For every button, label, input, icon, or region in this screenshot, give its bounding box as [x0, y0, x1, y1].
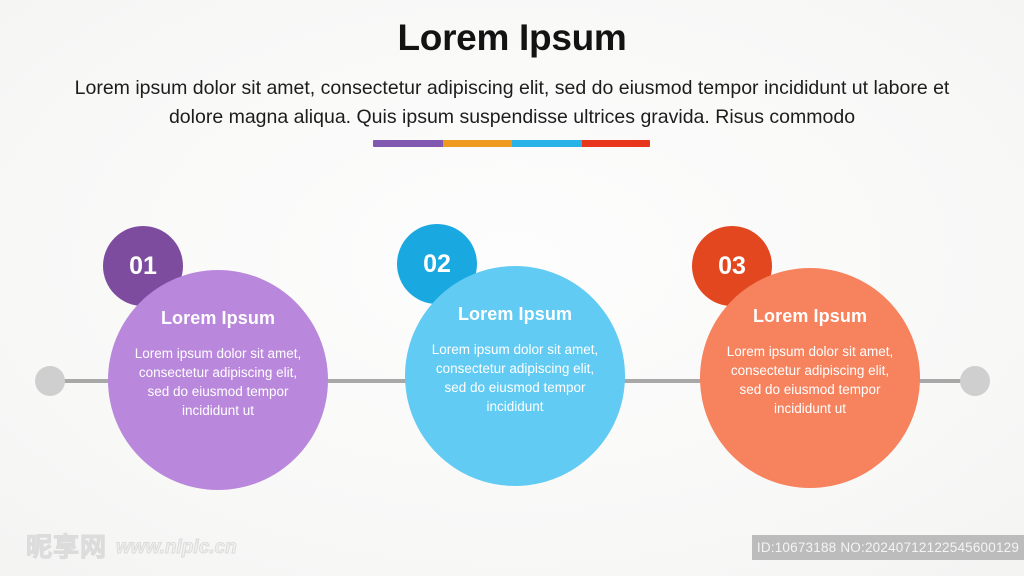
step-heading-01: Lorem Ipsum [161, 308, 275, 329]
step-item-03[interactable]: 03 Lorem Ipsum Lorem ipsum dolor sit ame… [700, 268, 920, 488]
step-bubble-03[interactable]: Lorem Ipsum Lorem ipsum dolor sit amet, … [700, 268, 920, 488]
divider-segment-orange [443, 140, 512, 147]
infographic-canvas: Lorem Ipsum Lorem ipsum dolor sit amet, … [0, 0, 1024, 576]
timeline-end-dot-right [960, 366, 990, 396]
step-bubble-02[interactable]: Lorem Ipsum Lorem ipsum dolor sit amet, … [405, 266, 625, 486]
divider-segment-purple [373, 140, 443, 147]
step-body-01: Lorem ipsum dolor sit amet, consectetur … [132, 344, 304, 420]
step-item-01[interactable]: 01 Lorem Ipsum Lorem ipsum dolor sit ame… [108, 270, 328, 490]
page-title: Lorem Ipsum [0, 17, 1024, 59]
site-watermark: 昵享网 www.nipic.cn [26, 534, 237, 560]
asset-id-bar: ID:10673188 NO:20240712122545600129 [752, 535, 1024, 560]
step-bubble-01[interactable]: Lorem Ipsum Lorem ipsum dolor sit amet, … [108, 270, 328, 490]
accent-divider-bar [373, 140, 650, 147]
divider-segment-red [582, 140, 650, 147]
page-subtitle: Lorem ipsum dolor sit amet, consectetur … [62, 74, 962, 132]
step-item-02[interactable]: 02 Lorem Ipsum Lorem ipsum dolor sit ame… [405, 266, 625, 486]
step-heading-03: Lorem Ipsum [753, 306, 867, 327]
timeline-end-dot-left [35, 366, 65, 396]
step-body-03: Lorem ipsum dolor sit amet, consectetur … [724, 342, 896, 418]
divider-segment-blue [512, 140, 582, 147]
step-heading-02: Lorem Ipsum [458, 304, 572, 325]
watermark-url-text: www.nipic.cn [116, 538, 237, 557]
watermark-logo-text: 昵享网 [26, 534, 107, 560]
step-body-02: Lorem ipsum dolor sit amet, consectetur … [429, 340, 601, 416]
